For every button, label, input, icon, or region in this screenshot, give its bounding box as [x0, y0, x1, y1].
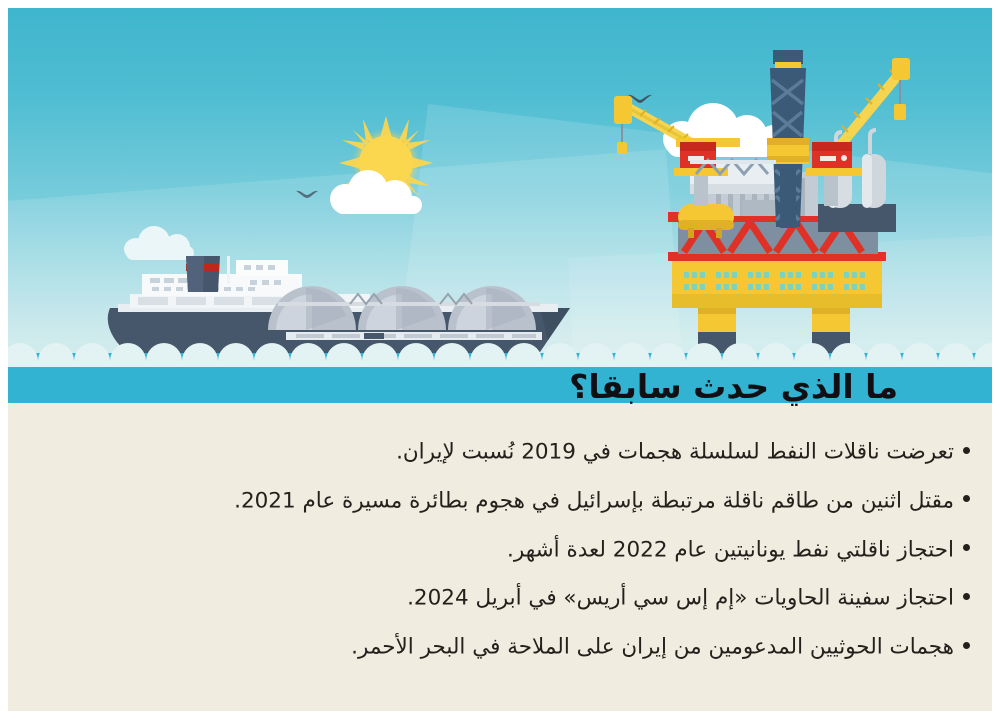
- bullet-icon: [963, 495, 970, 502]
- bird-icon: [296, 190, 318, 200]
- page-title: ما الذي حدث سابقا؟: [569, 370, 898, 403]
- bullet-icon: [963, 593, 970, 600]
- list-item: هجمات الحوثيين المدعومين من إيران على ال…: [8, 636, 970, 658]
- list-item: مقتل اثنين من طاقم ناقلة مرتبطة بإسرائيل…: [8, 490, 970, 512]
- list-item-label: احتجاز سفينة الحاويات «إم إس سي أريس» في…: [407, 586, 954, 611]
- bullet-icon: [963, 544, 970, 551]
- illustration-scene: [8, 8, 992, 403]
- infographic-card: ما الذي حدث سابقا؟ تعرضت ناقلات النفط لس…: [8, 8, 992, 711]
- list-item-label: مقتل اثنين من طاقم ناقلة مرتبطة بإسرائيل…: [234, 488, 954, 513]
- list-item: احتجاز سفينة الحاويات «إم إس سي أريس» في…: [8, 587, 970, 609]
- facts-panel: تعرضت ناقلات النفط لسلسلة هجمات في 2019 …: [8, 403, 992, 711]
- cloud-icon: [330, 170, 426, 212]
- list-item-label: تعرضت ناقلات النفط لسلسلة هجمات في 2019 …: [396, 439, 954, 464]
- bullet-icon: [963, 642, 970, 649]
- cloud-icon: [124, 226, 196, 258]
- crane-icon: [614, 96, 740, 154]
- list-item-label: احتجاز ناقلتي نفط يونانيتين عام 2022 لعد…: [507, 537, 954, 562]
- list-item: احتجاز ناقلتي نفط يونانيتين عام 2022 لعد…: [8, 539, 970, 561]
- crane-icon: [838, 58, 910, 148]
- facts-list: تعرضت ناقلات النفط لسلسلة هجمات في 2019 …: [8, 403, 992, 658]
- offshore-oil-rig-icon: [612, 32, 912, 372]
- list-item: تعرضت ناقلات النفط لسلسلة هجمات في 2019 …: [8, 441, 970, 463]
- bullet-icon: [963, 447, 970, 454]
- list-item-label: هجمات الحوثيين المدعومين من إيران على ال…: [351, 634, 954, 659]
